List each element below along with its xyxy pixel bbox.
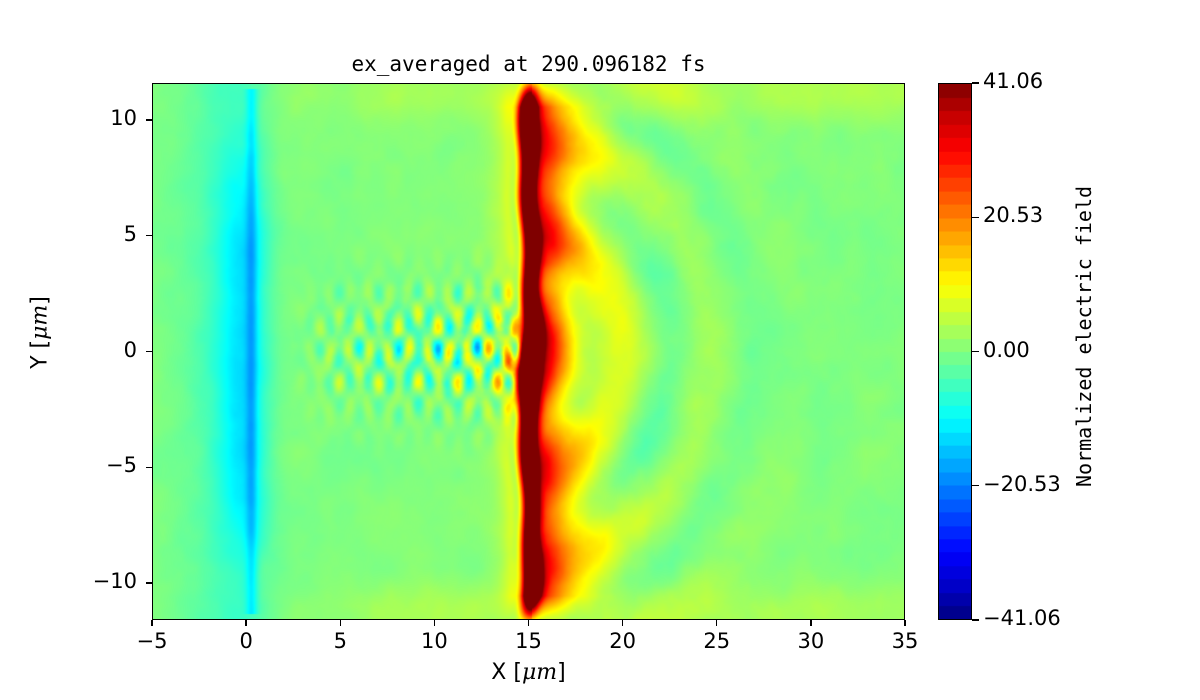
colorbar-tick-label: −20.53 <box>983 472 1061 496</box>
y-tick-label: −5 <box>67 453 137 477</box>
x-tick-mark <box>151 620 152 626</box>
x-tick-mark <box>434 620 435 626</box>
colorbar-tick-label: 0.00 <box>983 338 1030 362</box>
x-axis-unit: μm <box>522 660 557 685</box>
x-axis-label-text: X [ <box>491 660 522 685</box>
x-axis-label-suffix: ] <box>557 660 566 685</box>
colorbar <box>938 83 972 620</box>
x-tick-mark <box>245 620 246 626</box>
colorbar-tick-mark <box>972 351 979 352</box>
colorbar-tick-label: 20.53 <box>983 203 1043 227</box>
y-tick-mark <box>146 119 152 120</box>
heatmap-image <box>153 84 904 619</box>
colorbar-tick-mark <box>972 619 979 620</box>
x-tick-mark <box>904 620 905 626</box>
colorbar-tick-label: −41.06 <box>983 606 1061 630</box>
x-tick-label: 0 <box>201 629 291 653</box>
figure-canvas: ex_averaged at 290.096182 fs −5051015202… <box>0 0 1200 700</box>
y-axis-label: Y [μm] <box>28 233 53 433</box>
x-tick-label: −5 <box>107 629 197 653</box>
colorbar-tick-mark <box>972 82 979 83</box>
y-tick-mark <box>146 467 152 468</box>
x-tick-label: 25 <box>672 629 762 653</box>
x-tick-label: 5 <box>295 629 385 653</box>
colorbar-tick-mark <box>972 485 979 486</box>
colorbar-tick-mark <box>972 217 979 218</box>
y-tick-label: 10 <box>67 106 137 130</box>
y-tick-label: 5 <box>67 222 137 246</box>
y-tick-mark <box>146 582 152 583</box>
x-tick-label: 35 <box>860 629 950 653</box>
x-tick-mark <box>622 620 623 626</box>
y-tick-label: −10 <box>67 569 137 593</box>
colorbar-tick-label: 41.06 <box>983 69 1043 93</box>
x-tick-label: 10 <box>389 629 479 653</box>
x-axis-label: X [μm] <box>152 660 905 685</box>
colorbar-label: Normalized electric field <box>1072 185 1096 486</box>
x-tick-mark <box>716 620 717 626</box>
y-tick-label: 0 <box>67 338 137 362</box>
y-axis-label-suffix: ] <box>28 296 53 305</box>
plot-title: ex_averaged at 290.096182 fs <box>152 52 905 76</box>
x-tick-mark <box>340 620 341 626</box>
heatmap-axes <box>152 83 905 620</box>
x-tick-label: 30 <box>766 629 856 653</box>
x-tick-label: 15 <box>484 629 574 653</box>
y-tick-mark <box>146 351 152 352</box>
x-tick-mark <box>528 620 529 626</box>
x-tick-mark <box>810 620 811 626</box>
y-axis-unit: μm <box>28 305 53 340</box>
x-tick-label: 20 <box>578 629 668 653</box>
y-axis-label-text: Y [ <box>28 340 53 369</box>
y-tick-mark <box>146 235 152 236</box>
